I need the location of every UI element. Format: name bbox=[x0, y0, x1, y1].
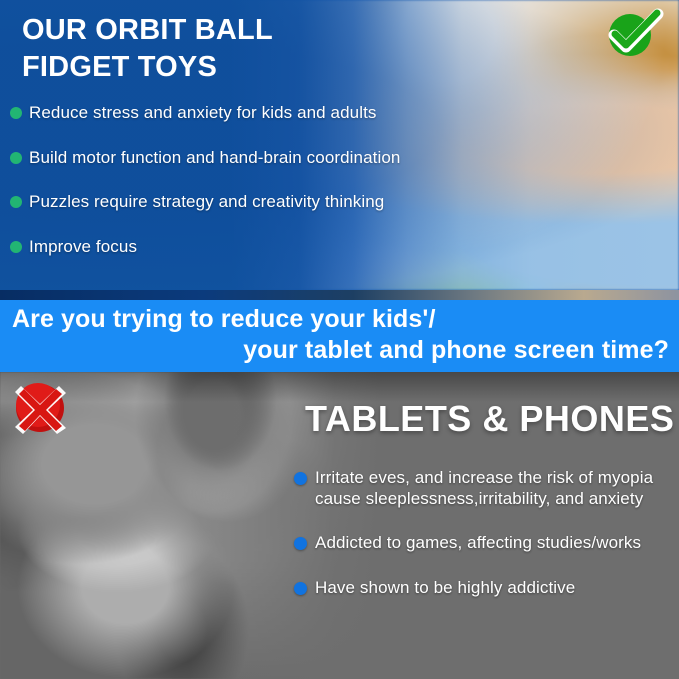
question-banner: Are you trying to reduce your kids'/ you… bbox=[0, 300, 679, 372]
bullet-dot-icon bbox=[294, 582, 307, 595]
list-item: Irritate eves, and increase the risk of … bbox=[294, 468, 672, 509]
product-infographic: OUR ORBIT BALL FIDGET TOYS Reduce stress… bbox=[0, 0, 679, 679]
bullet-dot-icon bbox=[294, 537, 307, 550]
list-item: Puzzles require strategy and creativity … bbox=[10, 192, 480, 212]
bullet-dot-icon bbox=[10, 196, 22, 208]
list-item: Addicted to games, affecting studies/wor… bbox=[294, 533, 672, 554]
top-bullet-list: Reduce stress and anxiety for kids and a… bbox=[10, 103, 480, 281]
top-benefits-panel: OUR ORBIT BALL FIDGET TOYS Reduce stress… bbox=[0, 0, 679, 290]
bottom-bullet-list: Irritate eves, and increase the risk of … bbox=[294, 468, 672, 623]
list-item: Reduce stress and anxiety for kids and a… bbox=[10, 103, 480, 123]
bottom-bullet-label: Irritate eves, and increase the risk of … bbox=[315, 468, 672, 509]
red-x-icon bbox=[12, 380, 68, 436]
bullet-dot-icon bbox=[10, 107, 22, 119]
bullet-dot-icon bbox=[294, 472, 307, 485]
list-item: Improve focus bbox=[10, 237, 480, 257]
top-title-line-2: FIDGET TOYS bbox=[22, 49, 352, 86]
top-bullet-label: Build motor function and hand-brain coor… bbox=[29, 148, 400, 168]
bottom-bullet-label: Have shown to be highly addictive bbox=[315, 578, 575, 599]
bullet-dot-icon bbox=[10, 241, 22, 253]
bottom-bullet-label: Addicted to games, affecting studies/wor… bbox=[315, 533, 641, 554]
banner-line-2: your tablet and phone screen time? bbox=[0, 336, 679, 365]
top-title-line-1: OUR ORBIT BALL bbox=[22, 12, 352, 49]
top-bullet-label: Improve focus bbox=[29, 237, 137, 257]
list-item: Build motor function and hand-brain coor… bbox=[10, 148, 480, 168]
top-bullet-label: Reduce stress and anxiety for kids and a… bbox=[29, 103, 377, 123]
green-check-icon bbox=[603, 8, 669, 60]
banner-line-1: Are you trying to reduce your kids'/ bbox=[0, 305, 679, 334]
list-item: Have shown to be highly addictive bbox=[294, 578, 672, 599]
bullet-dot-icon bbox=[10, 152, 22, 164]
bottom-title: TABLETS & PHONES bbox=[305, 398, 674, 440]
divider-strip bbox=[0, 290, 679, 300]
top-title: OUR ORBIT BALL FIDGET TOYS bbox=[22, 12, 352, 86]
top-bullet-label: Puzzles require strategy and creativity … bbox=[29, 192, 384, 212]
